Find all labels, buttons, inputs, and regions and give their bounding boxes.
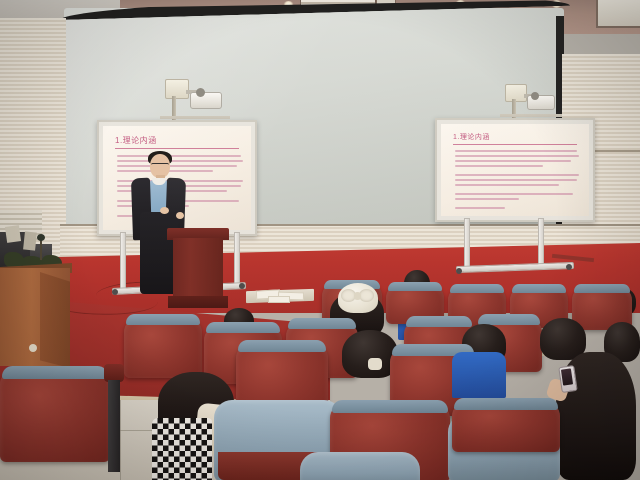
right-projector-lens: [531, 92, 539, 100]
right-slide-text-line: [455, 184, 559, 186]
planter-bud: [37, 234, 45, 241]
planter-box-side: [40, 272, 70, 368]
left-screen-stand-caster-1: [112, 289, 118, 295]
speaker-hand-left: [160, 207, 169, 214]
right-slide-text-line: [455, 160, 571, 162]
right-screen-stand-caster-1: [456, 268, 462, 274]
right-slide-text-line: [455, 179, 577, 181]
seat-rim-row-2: [288, 318, 356, 329]
left-projector: [190, 92, 222, 109]
right-projector-mount-plate: [505, 84, 527, 102]
seat-rim-row-5: [332, 400, 448, 413]
right-slide-text-line: [455, 174, 579, 176]
audience-face-mask: [368, 358, 382, 370]
seat-cushion-front-3[interactable]: [300, 452, 420, 480]
smartphone-screen[interactable]: [561, 368, 573, 385]
lecture-hall-photo: 1.理论内涵 1.理论内涵: [0, 0, 640, 480]
equipment-panel: [5, 225, 21, 243]
seat-rim-row-5: [454, 398, 558, 410]
seat-rim-row-4: [2, 366, 108, 379]
right-screen-stand-leg-2: [538, 218, 544, 268]
audience-person-checkered-top: [152, 418, 212, 480]
right-projection-screen: 1.理论内涵: [435, 118, 595, 222]
audience-person-blue-jacket-2: [452, 352, 506, 398]
speaker-glasses: [151, 163, 169, 169]
left-slide-text-line: [117, 160, 243, 162]
seat-back-row-4[interactable]: [0, 370, 110, 462]
seat-back-row-2[interactable]: [124, 318, 202, 378]
right-slide-text-line: [455, 198, 519, 200]
seat-rim-row-1: [512, 284, 566, 293]
left-projector-ceiling-bracket: [160, 116, 230, 119]
seat-rim-row-2: [206, 322, 280, 333]
speaker-hand-right: [176, 212, 184, 219]
seat-rim-row-1: [574, 284, 630, 293]
right-slide-text-line: [455, 207, 505, 209]
seat-rim-row-3: [238, 340, 326, 352]
podium-base: [168, 296, 228, 308]
equipment-panel-2: [23, 231, 37, 250]
right-projector-ceiling-bracket: [500, 114, 562, 117]
left-screen-stand-leg-2: [234, 232, 240, 286]
right-slide-text-line: [455, 150, 577, 152]
seat-rim-row-2: [406, 316, 472, 327]
left-slide-text-line: [117, 155, 241, 157]
left-slide-title-rule: [115, 148, 239, 149]
right-slide-text-line: [455, 193, 573, 195]
planter-box-knob: [29, 344, 37, 352]
left-projector-mount-plate: [165, 79, 189, 99]
hat-bow-right-loop: [359, 289, 374, 302]
planter-stalk: [40, 238, 42, 260]
left-screen-stand-leg-1: [120, 232, 126, 292]
right-screen-slide-surface: 1.理论内涵: [441, 124, 589, 216]
seat-rim-row-1: [388, 282, 442, 291]
left-projector-lens: [196, 88, 205, 97]
right-screen-stand-caster-2: [566, 264, 572, 270]
right-slide-text-line: [455, 155, 579, 157]
seat-rim-row-2: [126, 314, 200, 325]
right-slide-title: 1.理论内涵: [453, 132, 490, 142]
podium: [173, 238, 223, 302]
planter-foliage-1: [4, 252, 24, 268]
seat-leg-post: [108, 380, 120, 472]
left-slide-title: 1.理论内涵: [115, 135, 157, 146]
seat-rim-row-1: [450, 284, 504, 293]
left-screen-stand-caster-2: [239, 283, 245, 289]
right-slide-title-rule: [453, 144, 577, 145]
right-screen-stand-leg-1: [464, 218, 470, 272]
table-paper-3: [268, 296, 290, 303]
right-slide-text-line: [455, 165, 543, 167]
hat-bow-knot: [354, 292, 361, 300]
floor-tile-seam-2: [120, 400, 121, 480]
ceiling-corner-panel: [596, 0, 640, 28]
left-slide-text-line: [117, 165, 237, 167]
